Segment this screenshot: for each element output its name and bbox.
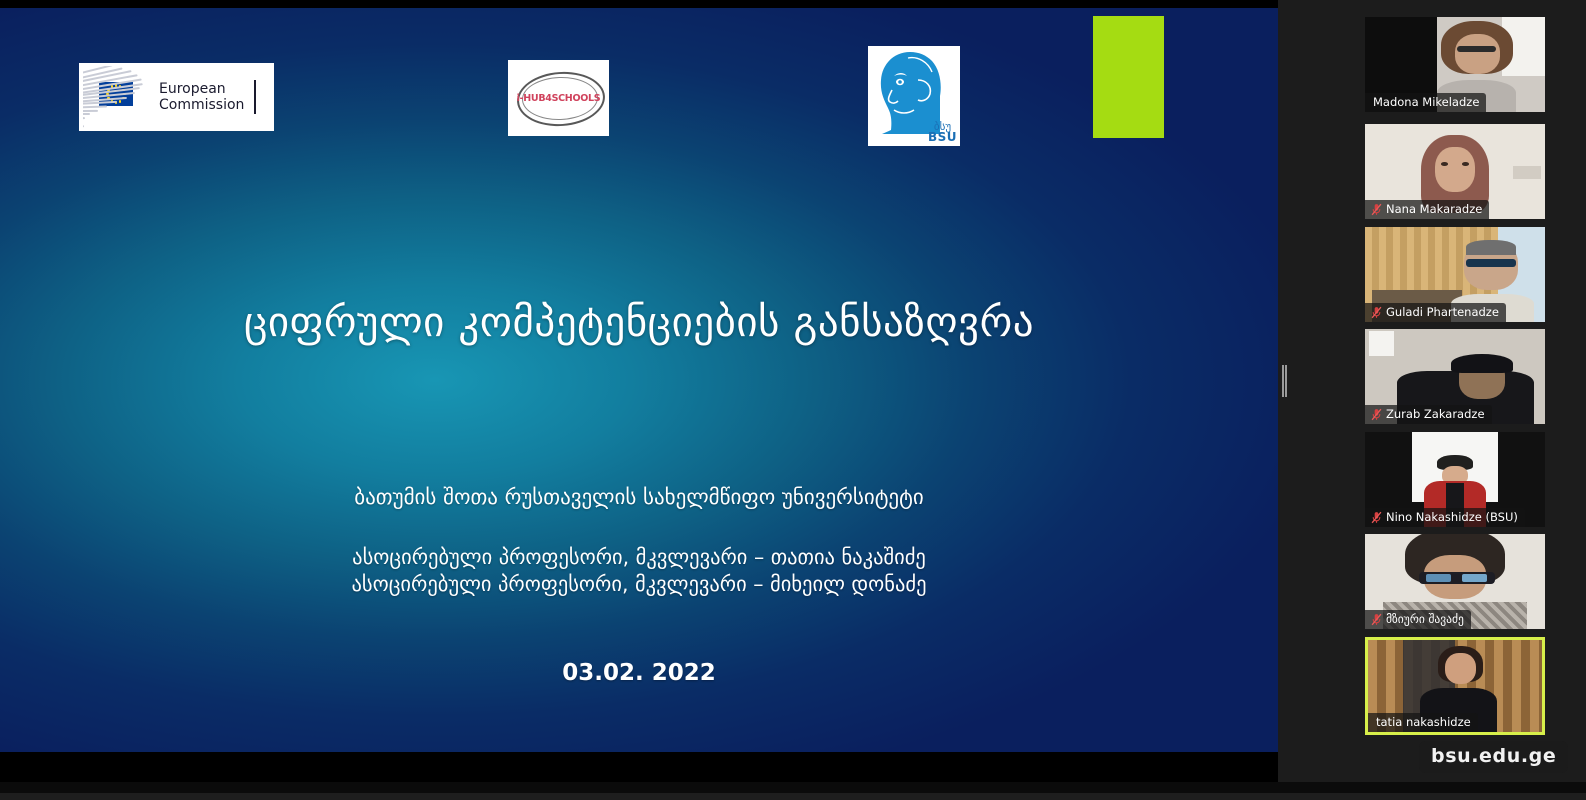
mic-muted-icon bbox=[1371, 306, 1382, 319]
mic-muted-icon bbox=[1371, 408, 1382, 421]
participant-name: Zurab Zakaradze bbox=[1386, 407, 1485, 421]
participant-name-bar: Guladi Phartenadze bbox=[1365, 303, 1506, 322]
mic-muted-icon bbox=[1371, 613, 1382, 626]
participant-name: Guladi Phartenadze bbox=[1386, 305, 1499, 319]
slide-presenters: ასოცირებული პროფესორი, მკვლევარი – თათია… bbox=[0, 544, 1278, 598]
drag-handle-bar bbox=[1282, 365, 1284, 397]
bsu-logo: ბსუ BSU bbox=[868, 46, 960, 146]
european-commission-logo: European Commission bbox=[79, 63, 274, 131]
participant-tile[interactable]: Guladi Phartenadze bbox=[1365, 227, 1545, 322]
i-hub4schools-logo: i-HUB4SCHOOLS bbox=[508, 60, 609, 136]
slide-date: 03.02. 2022 bbox=[0, 660, 1278, 686]
participant-tile[interactable]: tatia nakashidze bbox=[1365, 637, 1545, 735]
bsu-logo-label: ბსუ BSU bbox=[928, 121, 957, 143]
participant-name: Nana Makaradze bbox=[1386, 202, 1482, 216]
presentation-slide[interactable]: European Commission i-HUB4SCHOOLS bbox=[0, 8, 1278, 752]
panel-drag-handle[interactable] bbox=[1282, 365, 1287, 397]
mic-muted-icon bbox=[1371, 511, 1382, 524]
participant-tile[interactable]: მზიური შავაძე bbox=[1365, 534, 1545, 629]
presenter-line-1: ასოცირებული პროფესორი, მკვლევარი – თათია… bbox=[0, 544, 1278, 571]
slide-title: ციფრული კომპეტენციების განსაზღვრა bbox=[0, 298, 1278, 346]
conference-window: European Commission i-HUB4SCHOOLS bbox=[0, 0, 1586, 800]
participant-name: მზიური შავაძე bbox=[1386, 612, 1464, 626]
participant-name-bar: Madona Mikeladze bbox=[1365, 93, 1486, 112]
ec-wave-line bbox=[83, 105, 107, 108]
participant-name-bar: მზიური შავაძე bbox=[1365, 610, 1471, 629]
green-accent-block bbox=[1093, 16, 1164, 138]
participant-name-bar: Nino Nakashidze (BSU) bbox=[1365, 508, 1525, 527]
participant-tile[interactable]: Madona Mikeladze bbox=[1365, 17, 1545, 112]
ec-logo-bar bbox=[254, 80, 256, 114]
ec-logo-text: European Commission bbox=[159, 81, 244, 113]
participant-name-bar: Zurab Zakaradze bbox=[1365, 405, 1492, 424]
participant-tile[interactable]: Nino Nakashidze (BSU) bbox=[1365, 432, 1545, 527]
shared-screen-region[interactable]: European Commission i-HUB4SCHOOLS bbox=[0, 0, 1278, 782]
ec-wave-line bbox=[83, 117, 85, 119]
ec-logo-line2: Commission bbox=[159, 97, 244, 113]
presenter-line-2: ასოცირებული პროფესორი, მკვლევარი – მიხეი… bbox=[0, 571, 1278, 598]
participant-name-bar: tatia nakashidze bbox=[1368, 713, 1478, 732]
participant-filmstrip[interactable]: Madona MikeladzeNana MakaradzeGuladi Pha… bbox=[1290, 0, 1586, 782]
drag-handle-bar bbox=[1285, 365, 1287, 397]
ec-wave-line bbox=[83, 124, 84, 127]
slide-organization: ბათუმის შოთა რუსთაველის სახელმწიფო უნივე… bbox=[0, 485, 1278, 509]
participant-tile[interactable]: Zurab Zakaradze bbox=[1365, 329, 1545, 424]
bottom-toolbar-strip bbox=[0, 793, 1586, 800]
bsu-label-en: BSU bbox=[928, 132, 957, 143]
eu-star-icon bbox=[119, 100, 121, 102]
participant-name-bar: Nana Makaradze bbox=[1365, 200, 1489, 219]
i-hub4schools-logo-text: i-HUB4SCHOOLS bbox=[517, 93, 601, 104]
bottom-toolbar[interactable] bbox=[0, 782, 1586, 800]
participant-name: Nino Nakashidze (BSU) bbox=[1386, 510, 1518, 524]
participant-name: tatia nakashidze bbox=[1376, 715, 1471, 729]
ec-wave-line bbox=[83, 113, 90, 115]
ec-logo-line1: European bbox=[159, 81, 244, 97]
ec-wave-line bbox=[83, 110, 98, 112]
mic-muted-icon bbox=[1371, 203, 1382, 216]
participant-name: Madona Mikeladze bbox=[1373, 95, 1479, 109]
participant-tile[interactable]: Nana Makaradze bbox=[1365, 124, 1545, 219]
ec-wave-graphic bbox=[83, 66, 157, 128]
stamp-graphic: i-HUB4SCHOOLS bbox=[513, 68, 605, 128]
watermark: bsu.edu.ge bbox=[1419, 741, 1568, 773]
